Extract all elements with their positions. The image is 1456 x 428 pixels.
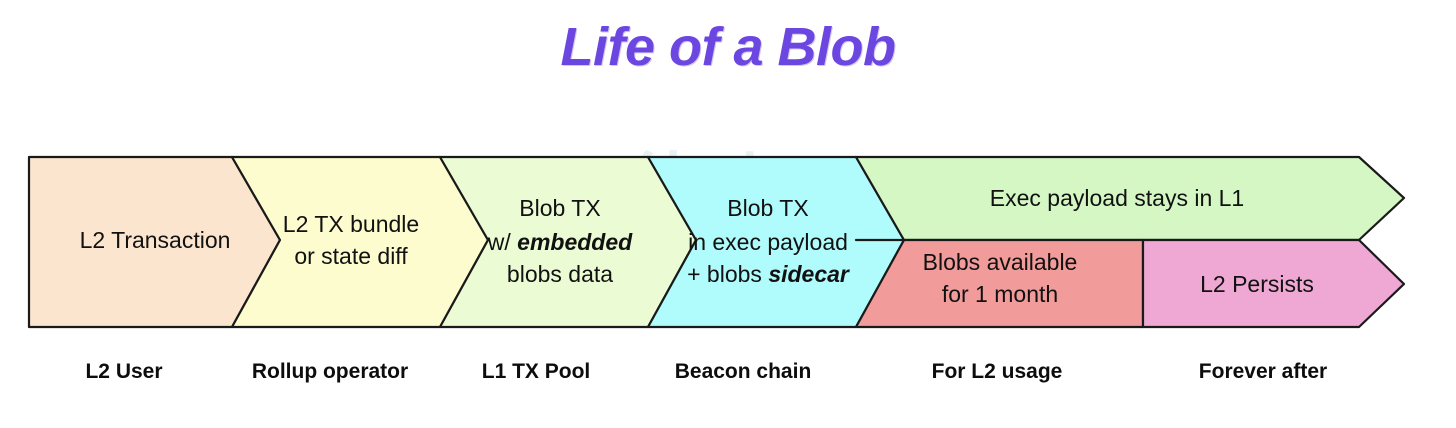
segment-line-3: + blobs sidecar [687, 261, 850, 287]
band-label: Exec payload stays in L1 [990, 185, 1244, 211]
stage-label-for-l2-usage: For L2 usage [932, 360, 1063, 384]
segment-line-1: Blob TX [519, 195, 600, 221]
segment-line-3: blobs data [507, 261, 613, 287]
segment-line-1: Blob TX [727, 195, 808, 221]
segment-line-2-emphasis: embedded [517, 229, 633, 255]
stage-label-l2-user: L2 User [85, 360, 162, 384]
stage-label-row: L2 User Rollup operator L1 TX Pool Beaco… [0, 360, 1456, 400]
stage-label-l1-tx-pool: L1 TX Pool [482, 360, 591, 384]
segment-line-1: Blobs available [923, 249, 1078, 275]
segment-line-3-emphasis: sidecar [768, 261, 850, 287]
segment-blobs-available[interactable]: Blobs available for 1 month [856, 240, 1143, 327]
stage-label-beacon-chain: Beacon chain [675, 360, 812, 384]
segment-line-2: or state diff [294, 243, 408, 269]
segment-l2-transaction[interactable]: L2 Transaction [29, 157, 280, 327]
segment-line-1: L2 Transaction [80, 227, 231, 253]
stage-label-rollup-operator: Rollup operator [252, 360, 408, 384]
band-exec-payload-stays[interactable]: Exec payload stays in L1 [856, 157, 1404, 240]
segment-line-1: L2 Persists [1200, 271, 1314, 297]
segment-line-1: L2 TX bundle [283, 211, 419, 237]
segment-line-2: w/ embedded [487, 229, 633, 255]
segment-line-2: for 1 month [942, 281, 1058, 307]
blob-lifecycle-flow-diagram: 律动 L2 Transaction L2 TX bundle or state … [0, 140, 1456, 340]
stage-label-forever-after: Forever after [1199, 360, 1327, 384]
segment-l2-persists[interactable]: L2 Persists [1143, 240, 1404, 327]
segment-line-3-pre: + blobs [687, 261, 768, 287]
segment-line-2-pre: w/ [487, 229, 517, 255]
page-title: Life of a Blob [0, 16, 1456, 78]
segment-line-2: in exec payload [688, 229, 848, 255]
